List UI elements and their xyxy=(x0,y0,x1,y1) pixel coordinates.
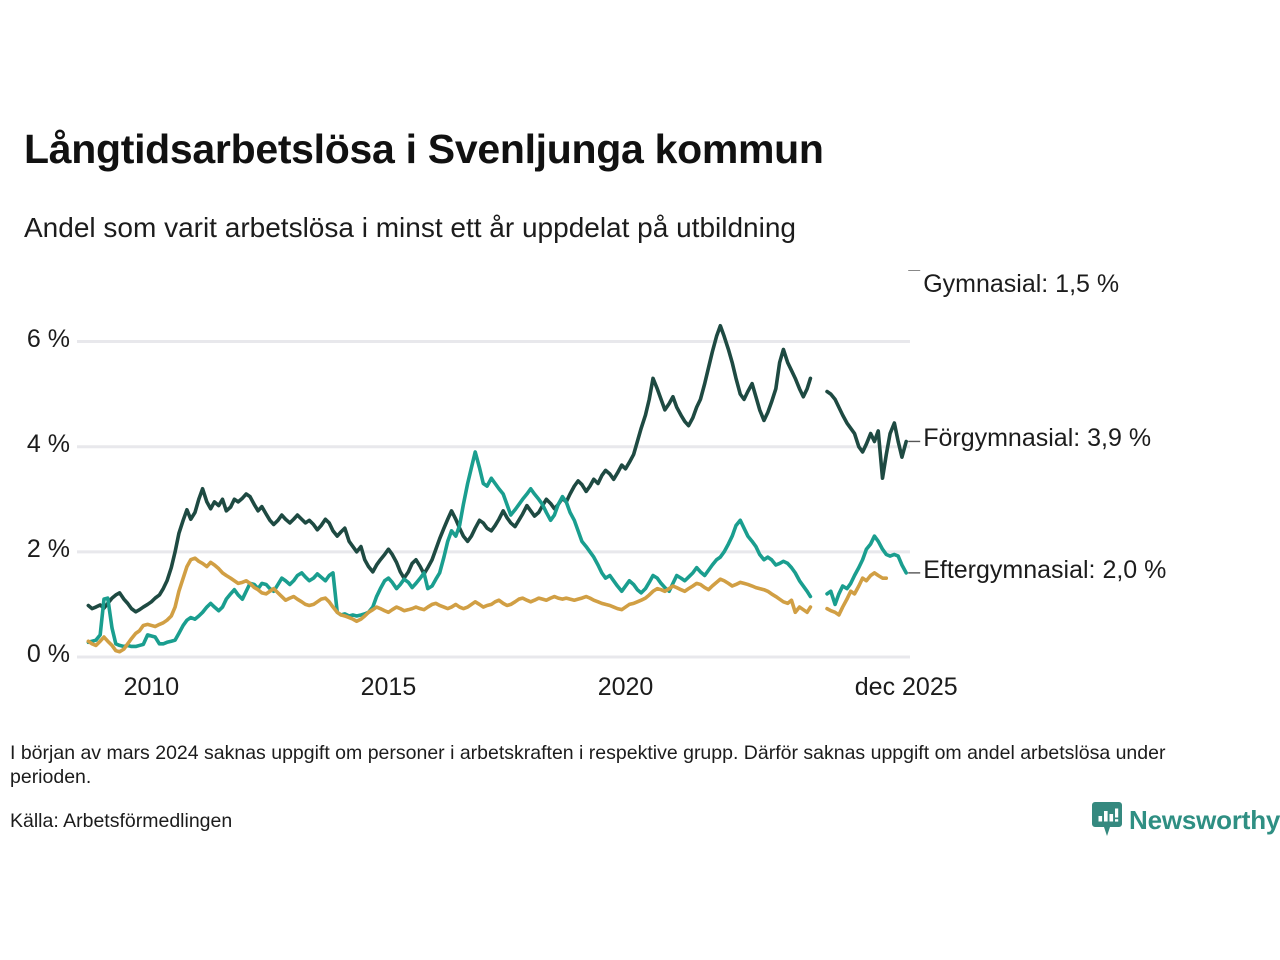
x-axis-tick-label: 2020 xyxy=(526,673,726,702)
line-chart-svg xyxy=(0,270,1280,700)
chart-page: Långtidsarbetslösa i Svenljunga kommun A… xyxy=(0,0,1280,960)
series-line-eftergymnasial xyxy=(827,536,906,604)
series-line-gymnasial xyxy=(827,573,886,615)
series-label-förgymnasial: Förgymnasial: 3,9 % xyxy=(923,424,1151,453)
bar-chart-pin-icon xyxy=(1092,802,1122,838)
footnote-text: I början av mars 2024 saknas uppgift om … xyxy=(10,742,1245,790)
series-label-eftergymnasial: Eftergymnasial: 2,0 % xyxy=(923,556,1166,585)
y-axis-tick-label: 0 % xyxy=(0,640,70,669)
leader-lines-group xyxy=(908,270,920,573)
gridlines-group xyxy=(77,342,910,657)
chart-subtitle: Andel som varit arbetslösa i minst ett å… xyxy=(24,212,796,244)
logo-wordmark: Newsworthy xyxy=(1129,805,1280,836)
x-axis-tick-label: dec 2025 xyxy=(806,673,1006,702)
x-axis-tick-label: 2010 xyxy=(51,673,251,702)
newsworthy-logo: Newsworthy xyxy=(1092,802,1280,838)
series-line-förgymnasial xyxy=(88,326,810,612)
series-paths-group xyxy=(88,326,906,652)
page-title: Långtidsarbetslösa i Svenljunga kommun xyxy=(24,126,824,173)
series-line-förgymnasial xyxy=(827,391,906,478)
x-axis-tick-label: 2015 xyxy=(288,673,488,702)
y-axis-tick-label: 2 % xyxy=(0,535,70,564)
source-note: Källa: Arbetsförmedlingen xyxy=(10,810,232,833)
y-axis-tick-label: 4 % xyxy=(0,430,70,459)
chart-plot-area: 0 %2 %4 %6 % 201020152020dec 2025 Förgym… xyxy=(0,270,1280,700)
y-axis-tick-label: 6 % xyxy=(0,325,70,354)
series-label-gymnasial: Gymnasial: 1,5 % xyxy=(923,270,1119,299)
series-line-eftergymnasial xyxy=(88,452,810,647)
